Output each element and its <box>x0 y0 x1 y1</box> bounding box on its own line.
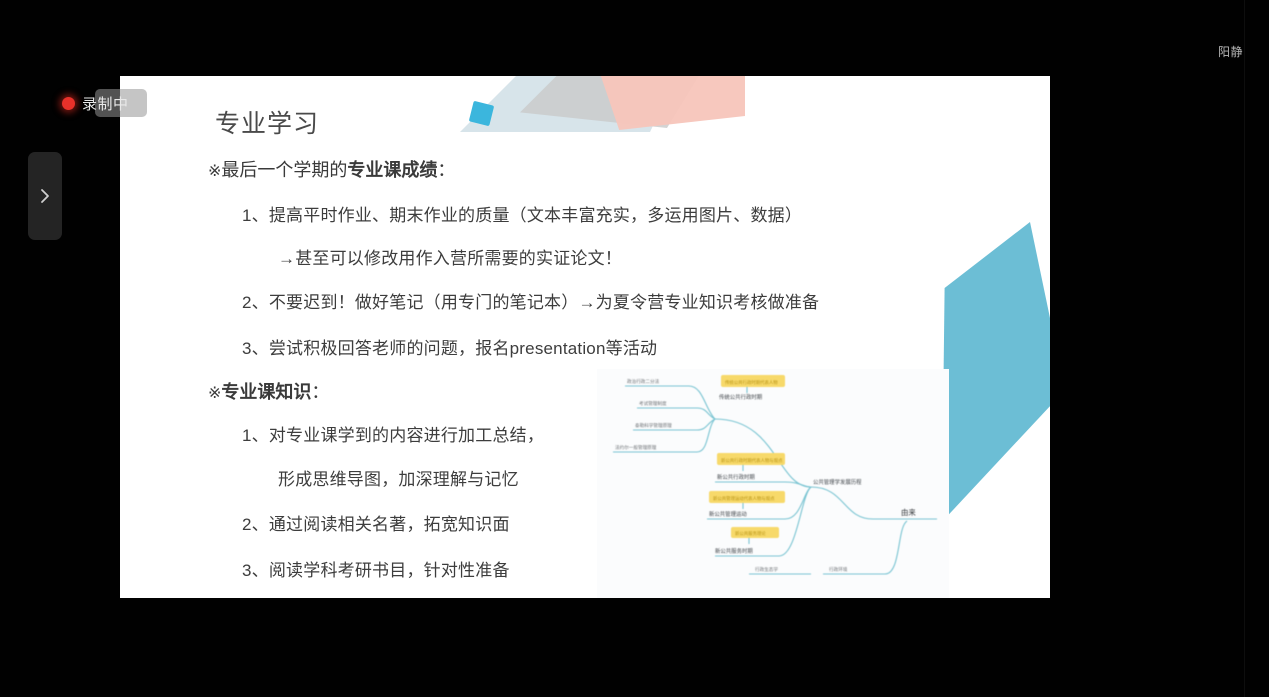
section-heading-suffix: ： <box>311 382 329 402</box>
svg-text:新公共服务时期: 新公共服务时期 <box>715 547 753 555</box>
section-heading-grades: ※最后一个学期的专业课成绩： <box>208 156 455 182</box>
mindmap-image: 传统公共行政时期代表人物 新公共行政时期代表人物与观点 新公共管理运动代表人物与… <box>597 369 949 598</box>
section-heading-bold: 专业课知识 <box>221 382 311 402</box>
bullet-item: 3、阅读学科考研书目，针对性准备 <box>242 556 510 581</box>
svg-text:由来: 由来 <box>901 508 916 517</box>
bullet-item: 2、通过阅读相关名著，拓宽知识面 <box>242 510 510 535</box>
slide-content: 专业学习 ※最后一个学期的专业课成绩： 1、提高平时作业、期末作业的质量（文本丰… <box>120 76 1050 598</box>
slide-title: 专业学习 <box>215 104 319 140</box>
bullet-item: 1、对专业课学到的内容进行加工总结， <box>242 421 544 446</box>
bullet-item: 3、尝试积极回答老师的问题，报名presentation等活动 <box>242 334 657 359</box>
svg-text:行政生态学: 行政生态学 <box>755 566 778 573</box>
svg-text:行政环境: 行政环境 <box>829 566 848 573</box>
recording-label: 录制中 <box>82 93 129 114</box>
svg-text:法约尔一般管理原理: 法约尔一般管理原理 <box>615 444 657 451</box>
section-heading-plain: 最后一个学期的 <box>221 160 347 180</box>
chevron-right-icon <box>38 186 52 206</box>
svg-text:新公共行政时期代表人物与观点: 新公共行政时期代表人物与观点 <box>721 457 783 464</box>
section-heading-bold: 专业课成绩 <box>347 160 437 180</box>
section-marker-icon: ※ <box>208 385 221 402</box>
svg-text:新公共行政时期: 新公共行政时期 <box>717 473 755 481</box>
svg-text:泰勒科学管理原理: 泰勒科学管理原理 <box>635 422 672 429</box>
bullet-subitem: →甚至可以修改用作入营所需要的实证论文！ <box>278 244 622 269</box>
bullet-item: 1、提高平时作业、期末作业的质量（文本丰富充实，多运用图片、数据） <box>242 201 802 226</box>
bullet-subitem: 形成思维导图，加深理解与记忆 <box>278 465 519 490</box>
video-conference-window: 录制中 阳静 专业学习 ※最后一个学期的专业课成绩： 1、提高平时作业 <box>0 0 1269 697</box>
svg-text:新公共服务理论: 新公共服务理论 <box>735 530 766 537</box>
participant-name-label: 阳静 <box>1218 43 1243 60</box>
expand-sidebar-button[interactable] <box>28 152 62 240</box>
recording-dot-icon <box>62 97 75 110</box>
svg-text:新公共管理运动代表人物与观点: 新公共管理运动代表人物与观点 <box>713 495 775 502</box>
section-marker-icon: ※ <box>208 163 221 180</box>
shared-slide[interactable]: 专业学习 ※最后一个学期的专业课成绩： 1、提高平时作业、期末作业的质量（文本丰… <box>120 76 1050 598</box>
svg-text:政治行政二分法: 政治行政二分法 <box>627 378 660 385</box>
bullet-item: 2、不要迟到！做好笔记（用专门的笔记本）→为夏令营专业知识考核做准备 <box>242 288 819 313</box>
stage-divider <box>1244 0 1245 697</box>
recording-badge: 录制中 <box>62 88 129 118</box>
section-heading-suffix: ： <box>437 160 455 180</box>
svg-text:公共管理学发展历程: 公共管理学发展历程 <box>813 478 862 486</box>
svg-text:新公共管理运动: 新公共管理运动 <box>709 510 747 518</box>
svg-text:考试管理制度: 考试管理制度 <box>639 400 667 407</box>
svg-text:传统公共行政时期代表人物: 传统公共行政时期代表人物 <box>725 379 778 386</box>
svg-text:传统公共行政时期: 传统公共行政时期 <box>719 393 762 401</box>
section-heading-knowledge: ※专业课知识： <box>208 378 329 404</box>
video-stage: 录制中 阳静 专业学习 ※最后一个学期的专业课成绩： 1、提高平时作业 <box>0 0 1269 697</box>
